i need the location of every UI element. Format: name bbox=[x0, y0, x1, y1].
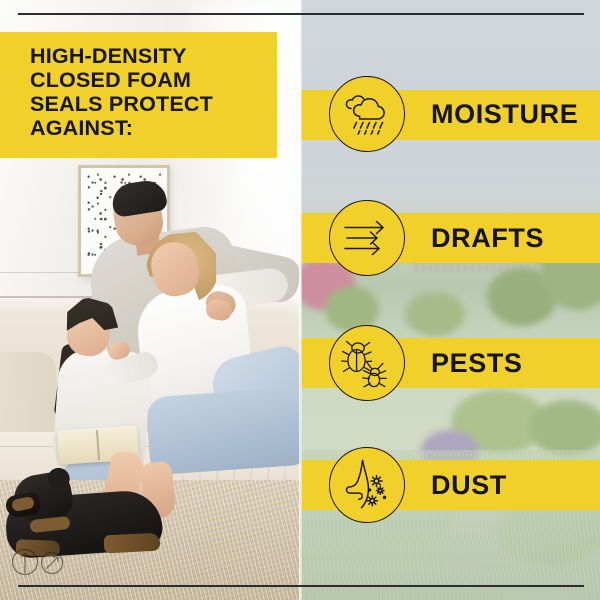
page-title: HIGH-DENSITY CLOSED FOAM SEALS PROTECT A… bbox=[30, 44, 213, 140]
bug-spider-icon bbox=[339, 335, 395, 391]
headline-banner: HIGH-DENSITY CLOSED FOAM SEALS PROTECT A… bbox=[0, 32, 277, 158]
benefit-row-dust[interactable]: DUST bbox=[301, 438, 600, 532]
benefit-label-drafts: DRAFTS bbox=[431, 223, 544, 254]
benefit-badge-moisture bbox=[329, 76, 405, 152]
dog-hind-leg bbox=[104, 533, 161, 554]
benefit-badge-pests bbox=[329, 325, 405, 401]
bottom-rule bbox=[18, 585, 584, 587]
benefit-row-pests[interactable]: PESTS bbox=[301, 316, 600, 410]
benefit-badge-dust bbox=[329, 447, 405, 523]
benefit-label-pests: PESTS bbox=[431, 348, 523, 379]
benefit-label-dust: DUST bbox=[431, 470, 507, 501]
nose-dust-particles-icon bbox=[339, 457, 395, 513]
air-arrows-icon bbox=[339, 210, 395, 266]
benefit-badge-drafts bbox=[329, 200, 405, 276]
benefit-label-moisture: MOISTURE bbox=[431, 99, 578, 130]
panel-divider bbox=[299, 0, 302, 600]
benefits-panel: MOISTURE DRAFTS bbox=[301, 0, 600, 600]
rain-cloud-icon bbox=[339, 86, 395, 142]
infographic-poster: MOISTURE DRAFTS bbox=[0, 0, 600, 600]
top-rule bbox=[18, 13, 584, 15]
mother-jeans bbox=[145, 387, 301, 476]
benefit-row-moisture[interactable]: MOISTURE bbox=[301, 67, 600, 161]
watermark-logo-icon bbox=[10, 548, 68, 576]
benefit-row-drafts[interactable]: DRAFTS bbox=[301, 191, 600, 285]
